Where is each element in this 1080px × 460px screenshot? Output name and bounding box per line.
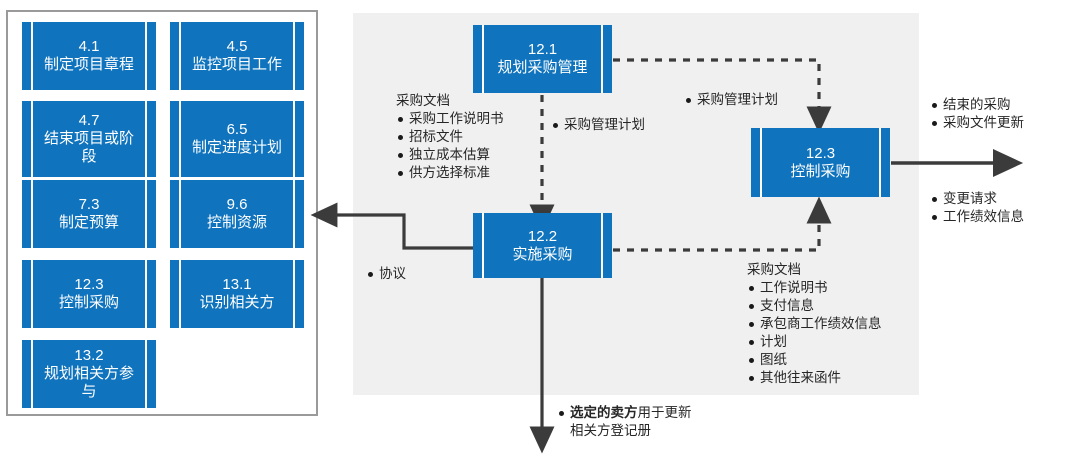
annotation-list: 协议 [366,265,406,283]
process-box-12-1[interactable]: 12.1 规划采购管理 [473,25,612,93]
list-item: 图纸 [747,351,882,369]
annotation-procurement-documents-left: 采购文档 采购工作说明书 招标文件 独立成本估算 供方选择标准 [396,92,504,182]
annotation-agreement: 协议 [366,265,406,283]
list-item: 采购管理计划 [684,91,778,109]
list-item: 选定的卖方用于更新 [557,404,692,422]
process-name: 实施采购 [512,246,572,264]
list-item: 工作说明书 [747,279,882,297]
list-item: 承包商工作绩效信息 [747,315,882,333]
annotation-outputs-bottom-right: 变更请求 工作绩效信息 [930,190,1024,226]
annotation-list: 变更请求 工作绩效信息 [930,190,1024,226]
annotation-selected-sellers: 选定的卖方用于更新 相关方登记册 [557,404,692,440]
list-item: 采购工作说明书 [396,110,504,128]
list-item: 供方选择标准 [396,164,504,182]
annotation-list: 工作说明书 支付信息 承包商工作绩效信息 计划 图纸 其他往来函件 [747,279,882,387]
process-name: 控制采购 [790,163,850,181]
diagram-canvas: 4.1 制定项目章程 4.5 监控项目工作 4.7 结束项目或阶段 6.5 制定… [0,0,1080,460]
list-item: 结束的采购 [930,96,1024,114]
process-number: 12.1 [528,41,557,59]
list-item: 独立成本估算 [396,146,504,164]
flow-121-to-123 [613,60,819,120]
list-item: 采购文件更新 [930,114,1024,132]
selected-sellers-line2: 相关方登记册 [557,422,692,440]
list-item: 计划 [747,333,882,351]
flow-122-to-left-panel [324,215,473,248]
list-item: 支付信息 [747,297,882,315]
list-item: 招标文件 [396,128,504,146]
annotation-heading: 采购文档 [396,92,504,110]
annotation-list: 采购管理计划 [551,116,645,134]
annotation-list: 选定的卖方用于更新 [557,404,692,422]
process-box-12-2[interactable]: 12.2 实施采购 [473,213,612,278]
process-number: 12.2 [528,228,557,246]
list-item: 其他往来函件 [747,369,882,387]
list-item: 协议 [366,265,406,283]
selected-sellers-suffix: 用于更新 [638,405,692,420]
annotation-procurement-mgmt-plan-right: 采购管理计划 [684,91,778,109]
annotation-list: 采购管理计划 [684,91,778,109]
flow-122-to-123 [613,210,819,250]
list-item: 变更请求 [930,190,1024,208]
annotation-heading: 采购文档 [747,261,882,279]
annotation-procurement-mgmt-plan-center: 采购管理计划 [551,116,645,134]
list-item: 工作绩效信息 [930,208,1024,226]
annotation-list: 结束的采购 采购文件更新 [930,96,1024,132]
list-item: 采购管理计划 [551,116,645,134]
process-name: 规划采购管理 [497,59,587,77]
process-box-12-3[interactable]: 12.3 控制采购 [751,128,890,197]
annotation-procurement-documents-right: 采购文档 工作说明书 支付信息 承包商工作绩效信息 计划 图纸 其他往来函件 [747,261,882,388]
annotation-outputs-top-right: 结束的采购 采购文件更新 [930,96,1024,132]
process-number: 12.3 [806,145,835,163]
annotation-list: 采购工作说明书 招标文件 独立成本估算 供方选择标准 [396,110,504,182]
selected-sellers-term: 选定的卖方 [570,405,638,420]
